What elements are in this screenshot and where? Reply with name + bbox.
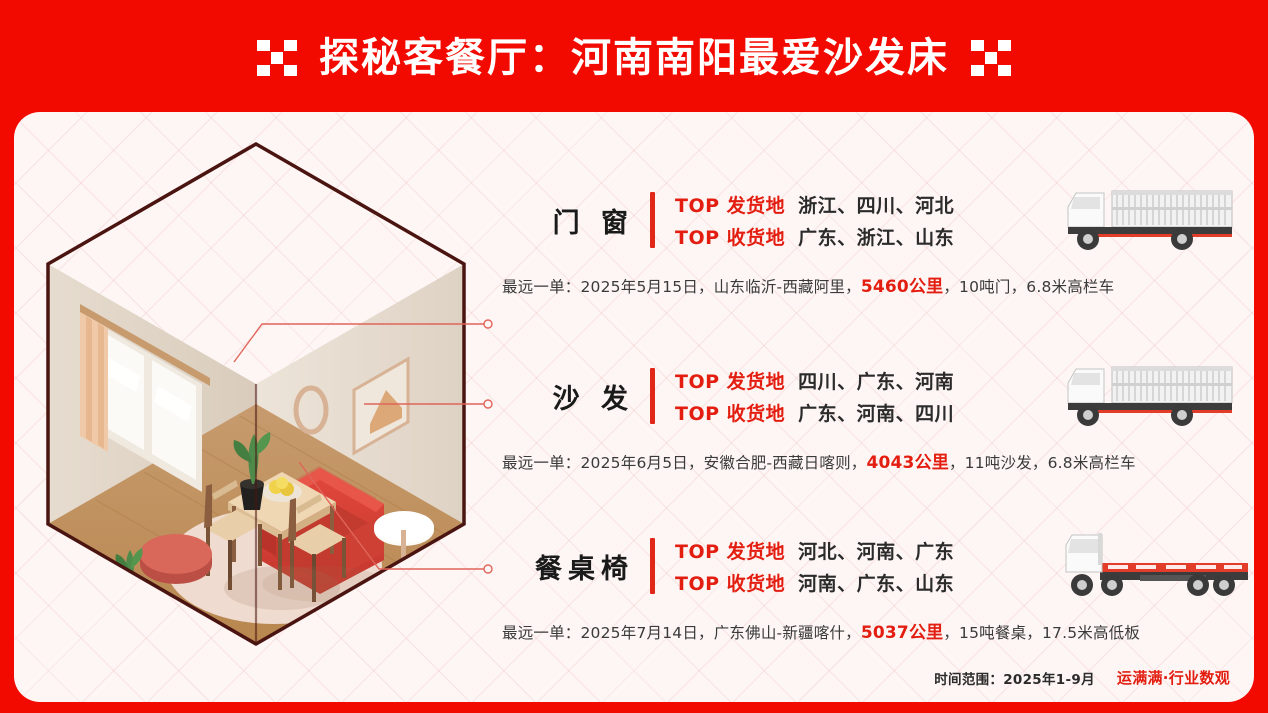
detail-prefix: 最远一单：2025年7月14日，广东佛山-新疆喀什， bbox=[502, 624, 861, 642]
leader-dot-dining bbox=[484, 565, 492, 573]
origin-value: 四川、广东、河南 bbox=[798, 367, 954, 394]
distance-value: 5037公里 bbox=[861, 623, 944, 643]
farthest-order-detail: 最远一单：2025年5月15日，山东临沂-西藏阿里，5460公里，10吨门，6.… bbox=[502, 272, 1254, 297]
destination-label: TOP 收货地 bbox=[675, 569, 785, 596]
detail-suffix: ，10吨门，6.8米高栏车 bbox=[943, 278, 1114, 296]
stake-truck-icon bbox=[1054, 181, 1254, 259]
isometric-room-illustration bbox=[36, 132, 476, 672]
page-title: 探秘客餐厅：河南南阳最爱沙发床 bbox=[319, 38, 949, 78]
distance-value: 4043公里 bbox=[866, 453, 949, 473]
divider-bar bbox=[650, 368, 655, 424]
category-row-doors-windows: 门 窗 TOP 发货地 浙江、四川、河北 TOP 收货地 广东、浙江、山东 bbox=[502, 184, 1254, 297]
category-row-dining-table: 餐桌椅 TOP 发货地 河北、河南、广东 TOP 收货地 河南、广东、山东 bbox=[502, 530, 1254, 643]
destination-label: TOP 收货地 bbox=[675, 399, 785, 426]
category-rows: 门 窗 TOP 发货地 浙江、四川、河北 TOP 收货地 广东、浙江、山东 bbox=[502, 112, 1254, 702]
flatbed-truck-icon bbox=[1054, 527, 1254, 605]
page-header: 探秘客餐厅：河南南阳最爱沙发床 bbox=[0, 0, 1268, 116]
destination-label: TOP 收货地 bbox=[675, 223, 785, 250]
divider-bar bbox=[650, 538, 655, 594]
detail-prefix: 最远一单：2025年6月5日，安徽合肥-西藏日喀则， bbox=[502, 454, 866, 472]
leader-dot-window bbox=[484, 320, 492, 328]
checkered-flag-icon-left bbox=[257, 40, 297, 76]
stake-truck-icon bbox=[1054, 357, 1254, 435]
detail-prefix: 最远一单：2025年5月15日，山东临沂-西藏阿里， bbox=[502, 278, 861, 296]
detail-suffix: ，11吨沙发，6.8米高栏车 bbox=[949, 454, 1136, 472]
origin-line: TOP 发货地 四川、广东、河南 bbox=[675, 367, 1050, 394]
curtain bbox=[80, 312, 108, 452]
destination-line: TOP 收货地 河南、广东、山东 bbox=[675, 569, 1050, 596]
destination-value: 广东、浙江、山东 bbox=[798, 223, 954, 250]
destination-line: TOP 收货地 广东、河南、四川 bbox=[675, 399, 1050, 426]
farthest-order-detail: 最远一单：2025年7月14日，广东佛山-新疆喀什，5037公里，15吨餐桌，1… bbox=[502, 618, 1254, 643]
ottoman bbox=[140, 534, 212, 584]
distance-value: 5460公里 bbox=[861, 277, 944, 297]
time-range-label: 时间范围：2025年1-9月 bbox=[934, 668, 1095, 688]
origin-label: TOP 发货地 bbox=[675, 537, 785, 564]
farthest-order-detail: 最远一单：2025年6月5日，安徽合肥-西藏日喀则，4043公里，11吨沙发，6… bbox=[502, 448, 1254, 473]
footer: 时间范围：2025年1-9月 运满满·行业数观 bbox=[934, 667, 1230, 688]
detail-suffix: ，15吨餐桌，17.5米高低板 bbox=[943, 624, 1140, 642]
destination-value: 河南、广东、山东 bbox=[798, 569, 954, 596]
origin-value: 浙江、四川、河北 bbox=[798, 191, 954, 218]
category-row-sofa: 沙 发 TOP 发货地 四川、广东、河南 TOP 收货地 广东、河南、四川 bbox=[502, 360, 1254, 473]
divider-bar bbox=[650, 192, 655, 248]
origin-label: TOP 发货地 bbox=[675, 191, 785, 218]
origin-label: TOP 发货地 bbox=[675, 367, 785, 394]
brand-label: 运满满·行业数观 bbox=[1117, 667, 1230, 688]
category-label: 门 窗 bbox=[502, 201, 650, 240]
category-label: 沙 发 bbox=[502, 377, 650, 416]
content-card: 门 窗 TOP 发货地 浙江、四川、河北 TOP 收货地 广东、浙江、山东 bbox=[14, 112, 1254, 702]
origin-value: 河北、河南、广东 bbox=[798, 537, 954, 564]
destination-value: 广东、河南、四川 bbox=[798, 399, 954, 426]
leader-dot-sofa bbox=[484, 400, 492, 408]
checkered-flag-icon-right bbox=[971, 40, 1011, 76]
origin-line: TOP 发货地 河北、河南、广东 bbox=[675, 537, 1050, 564]
category-label: 餐桌椅 bbox=[502, 547, 650, 586]
origin-line: TOP 发货地 浙江、四川、河北 bbox=[675, 191, 1050, 218]
destination-line: TOP 收货地 广东、浙江、山东 bbox=[675, 223, 1050, 250]
